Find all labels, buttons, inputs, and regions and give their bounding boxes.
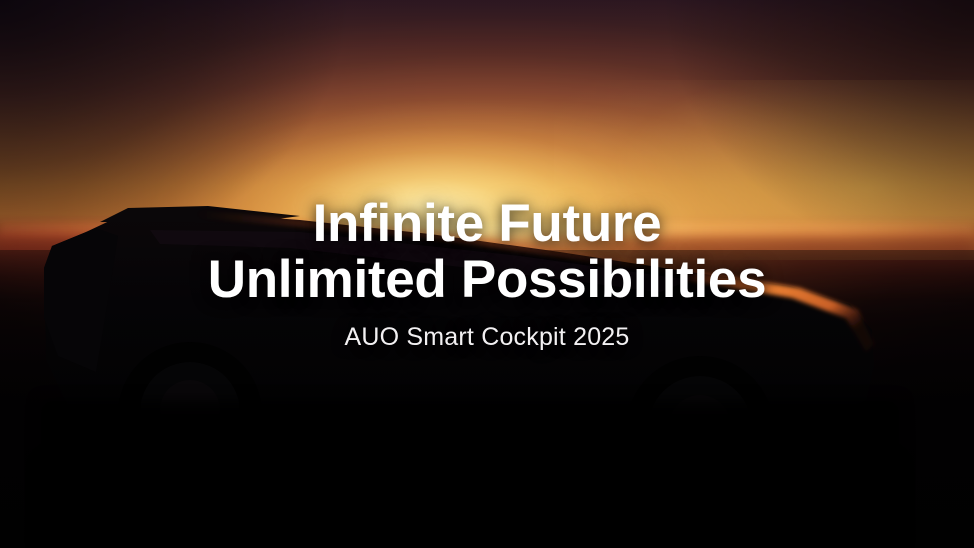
title-overlay: Infinite Future Unlimited Possibilities …	[0, 0, 974, 548]
headline-line-1: Infinite Future	[208, 196, 767, 252]
page-subtitle: AUO Smart Cockpit 2025	[344, 322, 629, 352]
headline-line-2: Unlimited Possibilities	[208, 252, 767, 308]
page-title: Infinite Future Unlimited Possibilities	[208, 196, 767, 308]
hero-title-card: Infinite Future Unlimited Possibilities …	[0, 0, 974, 548]
